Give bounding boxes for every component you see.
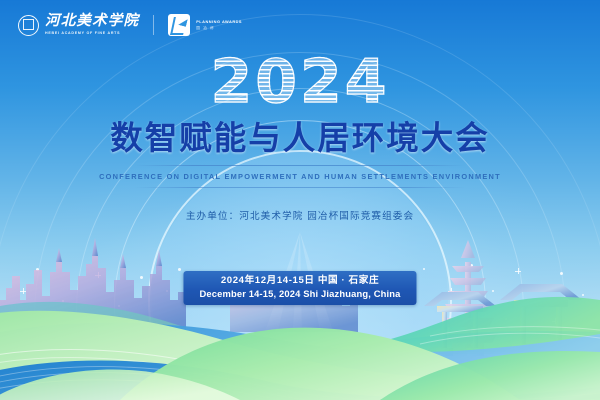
traditional-gate-silhouette bbox=[424, 284, 582, 356]
date-line-en: December 14-15, 2024 Shi Jiazhuang, Chin… bbox=[199, 288, 400, 300]
hill-left-crest bbox=[0, 370, 240, 400]
hill-band-teal bbox=[300, 297, 600, 354]
sparkle-dot bbox=[423, 268, 425, 270]
date-line-cn: 2024年12月14-15日 中国 · 石家庄 bbox=[199, 275, 400, 288]
academy-logo[interactable]: 河北美术学院 HEBEI ACADEMY OF FINE ARTS bbox=[18, 14, 139, 35]
circle-seal-icon bbox=[18, 15, 39, 36]
wave-lines bbox=[0, 349, 440, 400]
wave-foreground bbox=[0, 361, 600, 400]
hill-right-green bbox=[380, 351, 600, 400]
page-subtitle: CONFERENCE ON DIGITAL EMPOWERMENT AND HU… bbox=[0, 172, 600, 181]
sparkle-dot bbox=[505, 318, 507, 320]
partner-logo[interactable]: PLANNING AWARDS 园 冶 杯 bbox=[168, 14, 242, 36]
sparkle-dot bbox=[470, 264, 473, 267]
sparkle-dot bbox=[448, 288, 454, 294]
sparkle-dot bbox=[20, 288, 26, 294]
sparkle-dot bbox=[560, 272, 563, 275]
sparkle-dot bbox=[166, 290, 168, 292]
title-rule-bottom bbox=[135, 187, 465, 188]
sparkle-dot bbox=[95, 272, 101, 278]
partner-name-cn: 园 冶 杯 bbox=[196, 26, 242, 30]
sparkle-dot bbox=[552, 318, 558, 324]
sparkle-dot bbox=[515, 268, 521, 274]
academy-name-cn: 河北美术学院 bbox=[45, 14, 139, 29]
title-stack: 2024 数智赋能与人居环境大会 CONFERENCE ON DIGITAL E… bbox=[0, 52, 600, 222]
sparkle-dot bbox=[537, 300, 539, 302]
wave-lines-right bbox=[420, 327, 600, 344]
logo-divider bbox=[153, 15, 154, 35]
partner-name-en: PLANNING AWARDS bbox=[196, 20, 242, 24]
hill-left-green bbox=[0, 311, 440, 400]
organizer-line: 主办单位：河北美术学院 园冶杯国际竞赛组委会 bbox=[0, 208, 600, 222]
page-title: 数智赋能与人居环境大会 bbox=[0, 120, 600, 156]
title-rule-top bbox=[135, 165, 465, 166]
sparkle-dot bbox=[36, 268, 39, 271]
sparkle-dot bbox=[140, 276, 143, 279]
academy-name-en: HEBEI ACADEMY OF FINE ARTS bbox=[45, 32, 139, 36]
hill-center-green bbox=[120, 328, 520, 400]
header-logos: 河北美术学院 HEBEI ACADEMY OF FINE ARTS PLANNI… bbox=[18, 14, 242, 36]
conference-banner: 河北美术学院 HEBEI ACADEMY OF FINE ARTS PLANNI… bbox=[0, 0, 600, 400]
water-band bbox=[0, 323, 600, 400]
planning-awards-mark-icon bbox=[168, 14, 190, 36]
sparkle-dot bbox=[582, 294, 584, 296]
city-skyline-silhouette bbox=[0, 238, 186, 330]
hill-band-teal-left bbox=[0, 302, 236, 344]
year-display: 2024 bbox=[211, 52, 390, 112]
sparkle-dot bbox=[8, 312, 10, 314]
date-location-badge: 2024年12月14-15日 中国 · 石家庄 December 14-15, … bbox=[183, 271, 416, 305]
sparkle-dot bbox=[62, 300, 64, 302]
sparkle-dot bbox=[492, 290, 494, 292]
sparkle-dot bbox=[118, 305, 120, 307]
sparkle-dot bbox=[178, 268, 181, 271]
pagoda-silhouette bbox=[438, 240, 498, 364]
